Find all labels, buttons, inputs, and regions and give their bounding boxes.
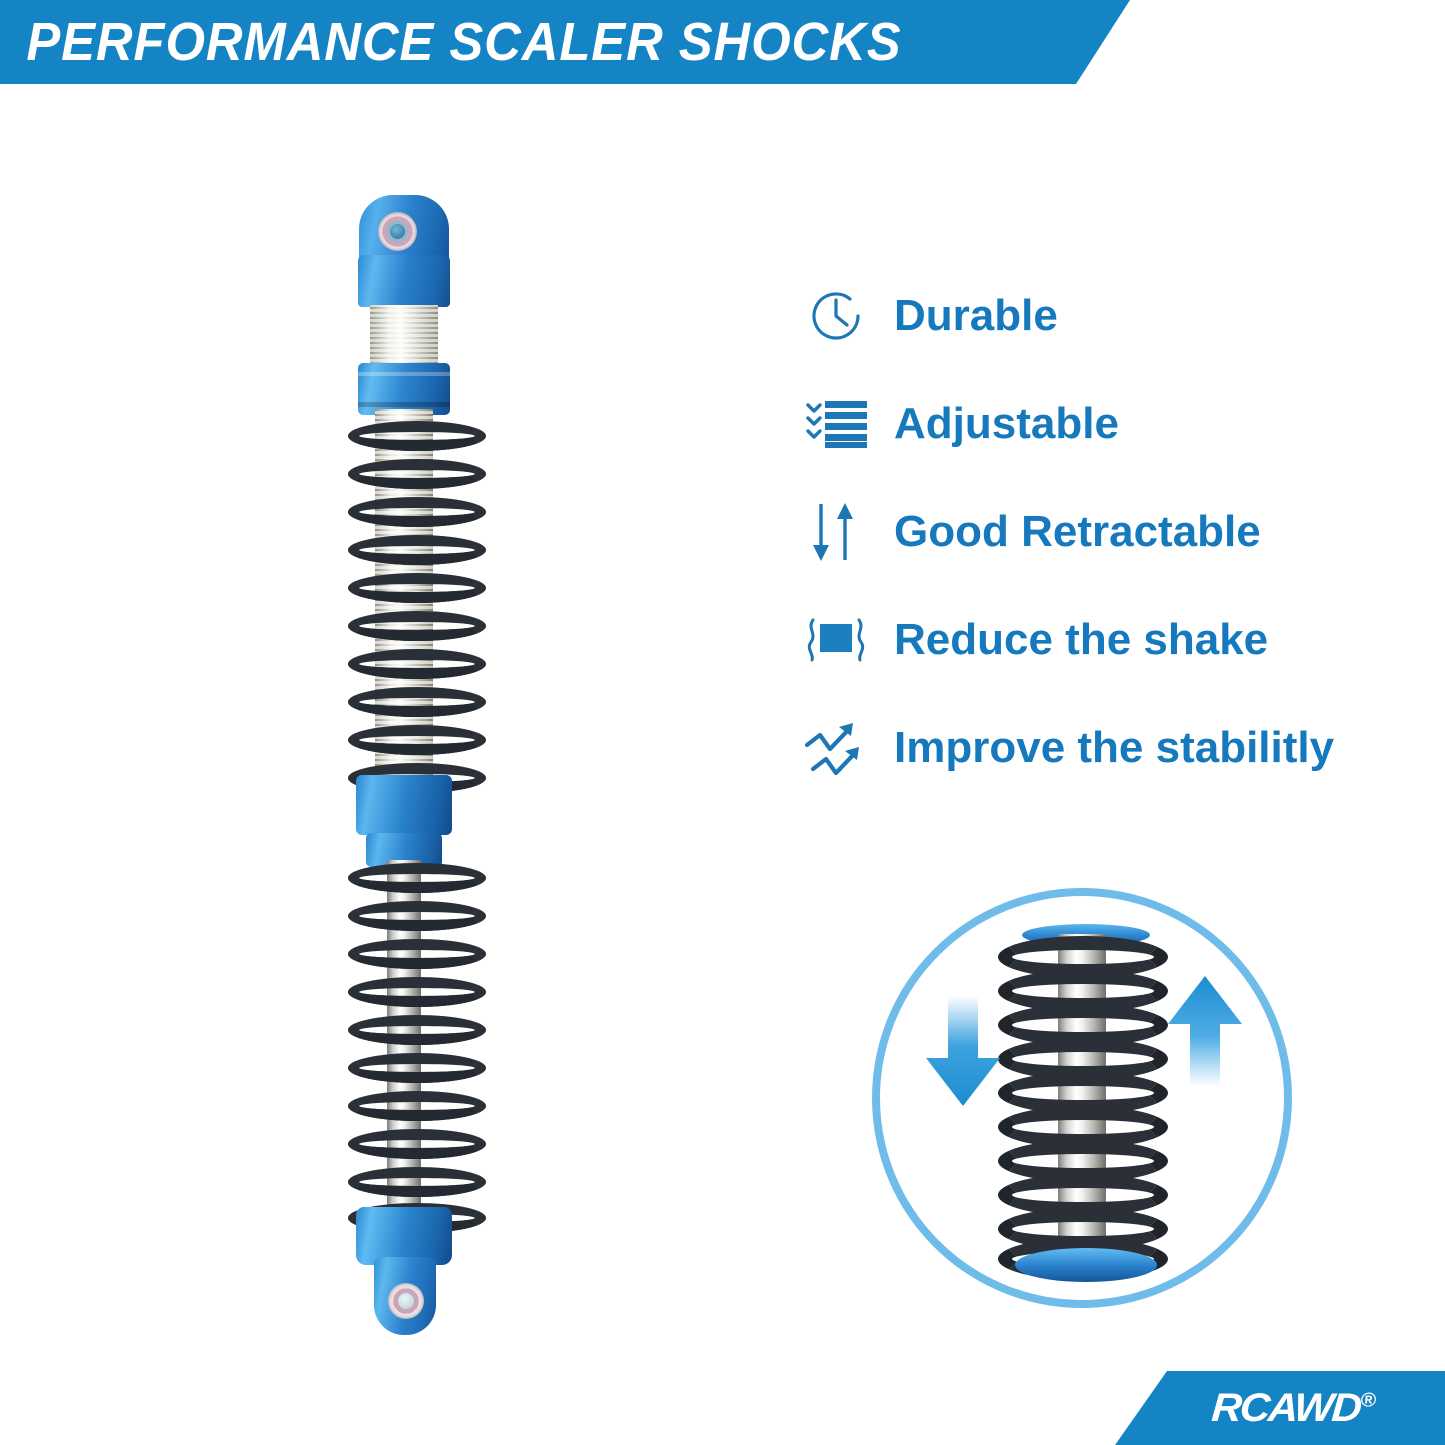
header-banner: PERFORMANCE SCALER SHOCKS bbox=[0, 0, 1130, 84]
page-title: PERFORMANCE SCALER SHOCKS bbox=[0, 15, 902, 69]
feature-list: Durable Adjustable bbox=[800, 262, 1430, 802]
feature-label: Good Retractable bbox=[894, 510, 1261, 554]
sliders-icon bbox=[800, 388, 872, 460]
callout-bottom-cap bbox=[1015, 1248, 1157, 1282]
brand-name: RCAWD bbox=[1210, 1386, 1361, 1430]
spring-detail-callout bbox=[872, 888, 1292, 1308]
trademark-symbol: ® bbox=[1360, 1390, 1377, 1412]
top-pivot-ball-icon bbox=[378, 212, 417, 251]
feature-item-durable: Durable bbox=[800, 262, 1430, 370]
feature-item-retractable: Good Retractable bbox=[800, 478, 1430, 586]
up-down-arrows-icon bbox=[800, 496, 872, 568]
bottom-bearing-icon bbox=[388, 1283, 424, 1319]
top-cap bbox=[358, 255, 450, 307]
feature-label: Adjustable bbox=[894, 402, 1119, 446]
clock-icon bbox=[800, 280, 872, 352]
feature-label: Reduce the shake bbox=[894, 618, 1268, 662]
feature-item-improve-stability: Improve the stabilitly bbox=[800, 694, 1430, 802]
brand-logo: RCAWD® bbox=[1115, 1371, 1445, 1445]
upper-thread-section bbox=[370, 305, 438, 367]
feature-label: Durable bbox=[894, 294, 1058, 338]
mid-body-cap bbox=[356, 775, 452, 835]
feature-label: Improve the stabilitly bbox=[894, 726, 1334, 770]
trending-up-icon bbox=[800, 712, 872, 784]
product-image bbox=[330, 195, 505, 1325]
feature-item-adjustable: Adjustable bbox=[800, 370, 1430, 478]
feature-item-reduce-shake: Reduce the shake bbox=[800, 586, 1430, 694]
preload-adjustment-collar bbox=[358, 363, 450, 415]
arrow-up-icon bbox=[1164, 974, 1246, 1086]
vibration-icon bbox=[800, 604, 872, 676]
arrow-down-icon bbox=[922, 996, 1004, 1108]
brand-logo-text: RCAWD® bbox=[1183, 1388, 1377, 1428]
